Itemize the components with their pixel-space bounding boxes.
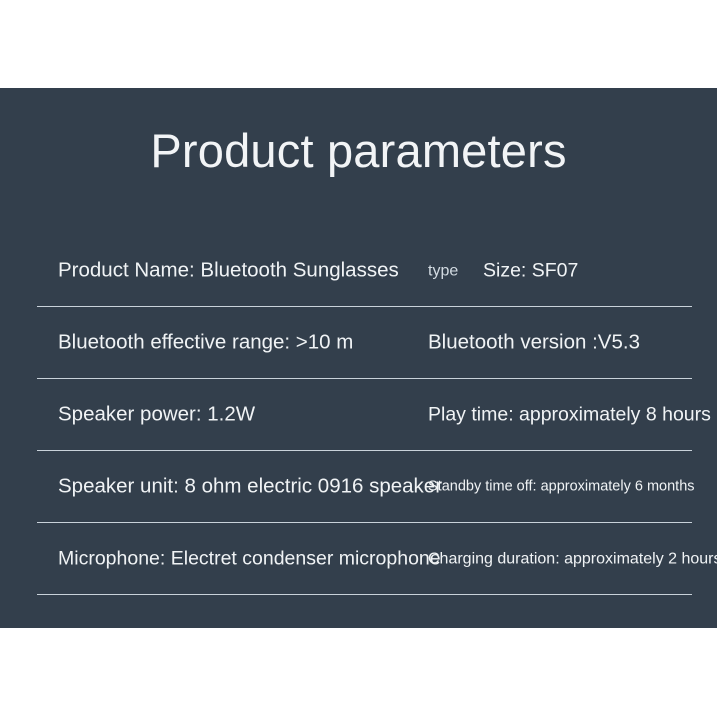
product-parameters-page: Product parameters Product Name: Bluetoo…	[0, 0, 717, 717]
table-row: Bluetooth effective range: >10 m Bluetoo…	[37, 307, 692, 379]
table-row: Product Name: Bluetooth Sunglasses type …	[37, 235, 692, 307]
spec-value-charging-duration: Charging duration: approximately 2 hours	[428, 549, 717, 568]
spec-panel: Product parameters Product Name: Bluetoo…	[0, 88, 717, 628]
spec-label-speaker-unit: Speaker unit: 8 ohm electric 0916 speake…	[58, 474, 442, 499]
page-title: Product parameters	[0, 126, 717, 175]
spec-label-type: type	[428, 261, 458, 280]
table-row: Microphone: Electret condenser microphon…	[37, 523, 692, 595]
spec-value-bluetooth-version: Bluetooth version :V5.3	[428, 330, 640, 355]
spec-label-microphone: Microphone: Electret condenser microphon…	[58, 547, 441, 570]
spec-table: Product Name: Bluetooth Sunglasses type …	[37, 235, 692, 595]
spec-label-speaker-power: Speaker power: 1.2W	[58, 402, 255, 427]
spec-label-product-name: Product Name: Bluetooth Sunglasses	[58, 258, 399, 283]
spec-value-standby-time: Standby time off: approximately 6 months	[428, 478, 695, 495]
spec-value-size: Size: SF07	[483, 259, 578, 282]
spec-value-play-time: Play time: approximately 8 hours	[428, 403, 711, 426]
spec-label-bluetooth-range: Bluetooth effective range: >10 m	[58, 330, 353, 355]
table-row: Speaker power: 1.2W Play time: approxima…	[37, 379, 692, 451]
table-row: Speaker unit: 8 ohm electric 0916 speake…	[37, 451, 692, 523]
